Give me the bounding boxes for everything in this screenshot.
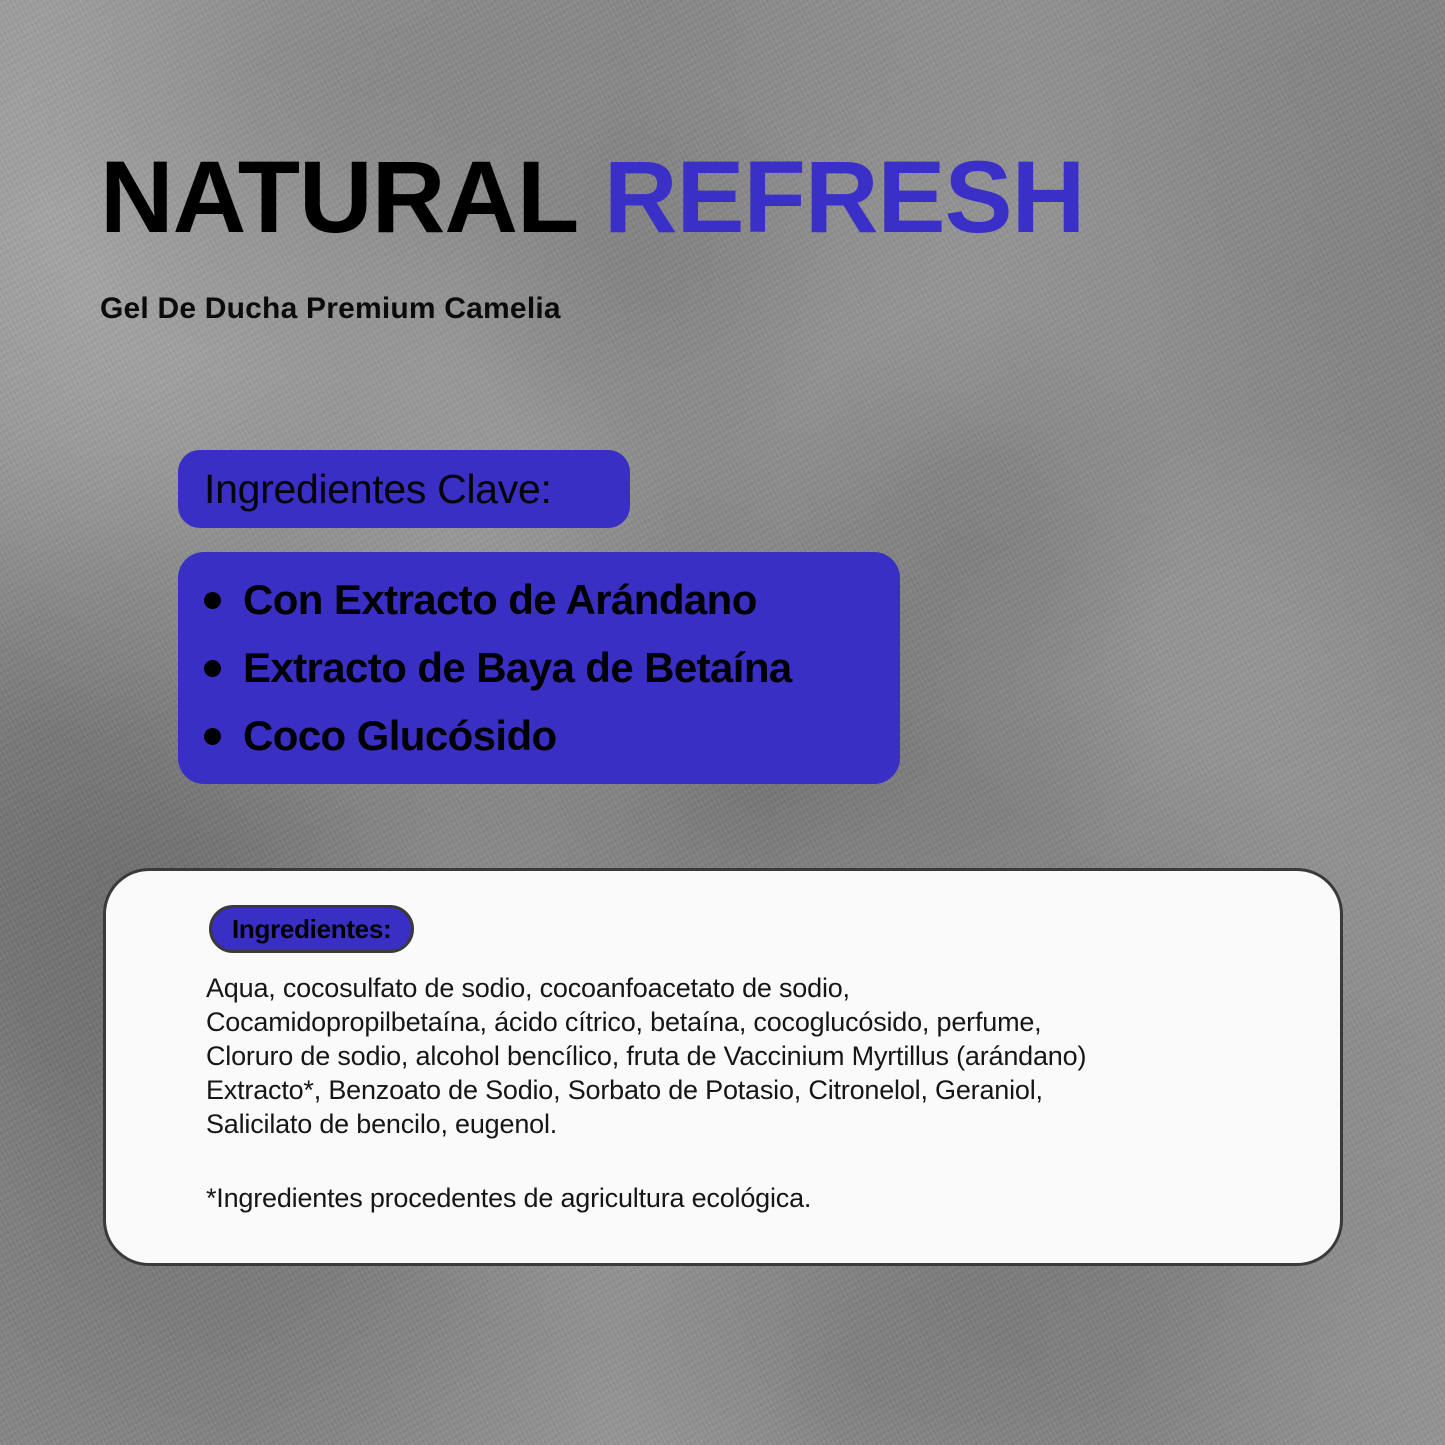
list-item: Con Extracto de Arándano: [178, 576, 900, 624]
ingredients-line: Cocamidopropilbetaína, ácido cítrico, be…: [206, 1005, 1280, 1039]
bullet-dot-icon: [204, 592, 221, 609]
key-ingredient-label: Con Extracto de Arándano: [243, 576, 757, 624]
bullet-dot-icon: [204, 728, 221, 745]
ingredients-line: Extracto*, Benzoato de Sodio, Sorbato de…: [206, 1073, 1280, 1107]
key-ingredient-label: Extracto de Baya de Betaína: [243, 644, 792, 692]
key-ingredients-panel: Con Extracto de Arándano Extracto de Bay…: [178, 552, 900, 784]
ingredients-badge: Ingredientes:: [209, 905, 414, 953]
list-item: Coco Glucósido: [178, 712, 900, 760]
title-word-natural: NATURAL: [100, 140, 577, 254]
ingredients-card: Ingredientes: Aqua, cocosulfato de sodio…: [103, 868, 1343, 1266]
key-ingredient-label: Coco Glucósido: [243, 712, 557, 760]
list-item: Extracto de Baya de Betaína: [178, 644, 900, 692]
ingredients-line: Cloruro de sodio, alcohol bencílico, fru…: [206, 1039, 1280, 1073]
title-word-refresh: REFRESH: [604, 140, 1084, 254]
ingredients-badge-label: Ingredientes:: [232, 914, 391, 945]
product-label-poster: NATURAL REFRESH Gel De Ducha Premium Cam…: [0, 0, 1445, 1445]
page-title: NATURAL REFRESH: [100, 146, 1084, 248]
ingredients-footnote: *Ingredientes procedentes de agricultura…: [206, 1181, 1280, 1215]
key-ingredients-badge-label: Ingredientes Clave:: [204, 466, 552, 513]
ingredients-line: Aqua, cocosulfato de sodio, cocoanfoacet…: [206, 971, 1280, 1005]
poster-content: NATURAL REFRESH Gel De Ducha Premium Cam…: [0, 0, 1445, 1445]
product-subtitle: Gel De Ducha Premium Camelia: [100, 292, 561, 326]
ingredients-text-block: Aqua, cocosulfato de sodio, cocoanfoacet…: [206, 971, 1280, 1215]
bullet-dot-icon: [204, 660, 221, 677]
ingredients-line: Salicilato de bencilo, eugenol.: [206, 1107, 1280, 1141]
key-ingredients-badge: Ingredientes Clave:: [178, 450, 630, 528]
